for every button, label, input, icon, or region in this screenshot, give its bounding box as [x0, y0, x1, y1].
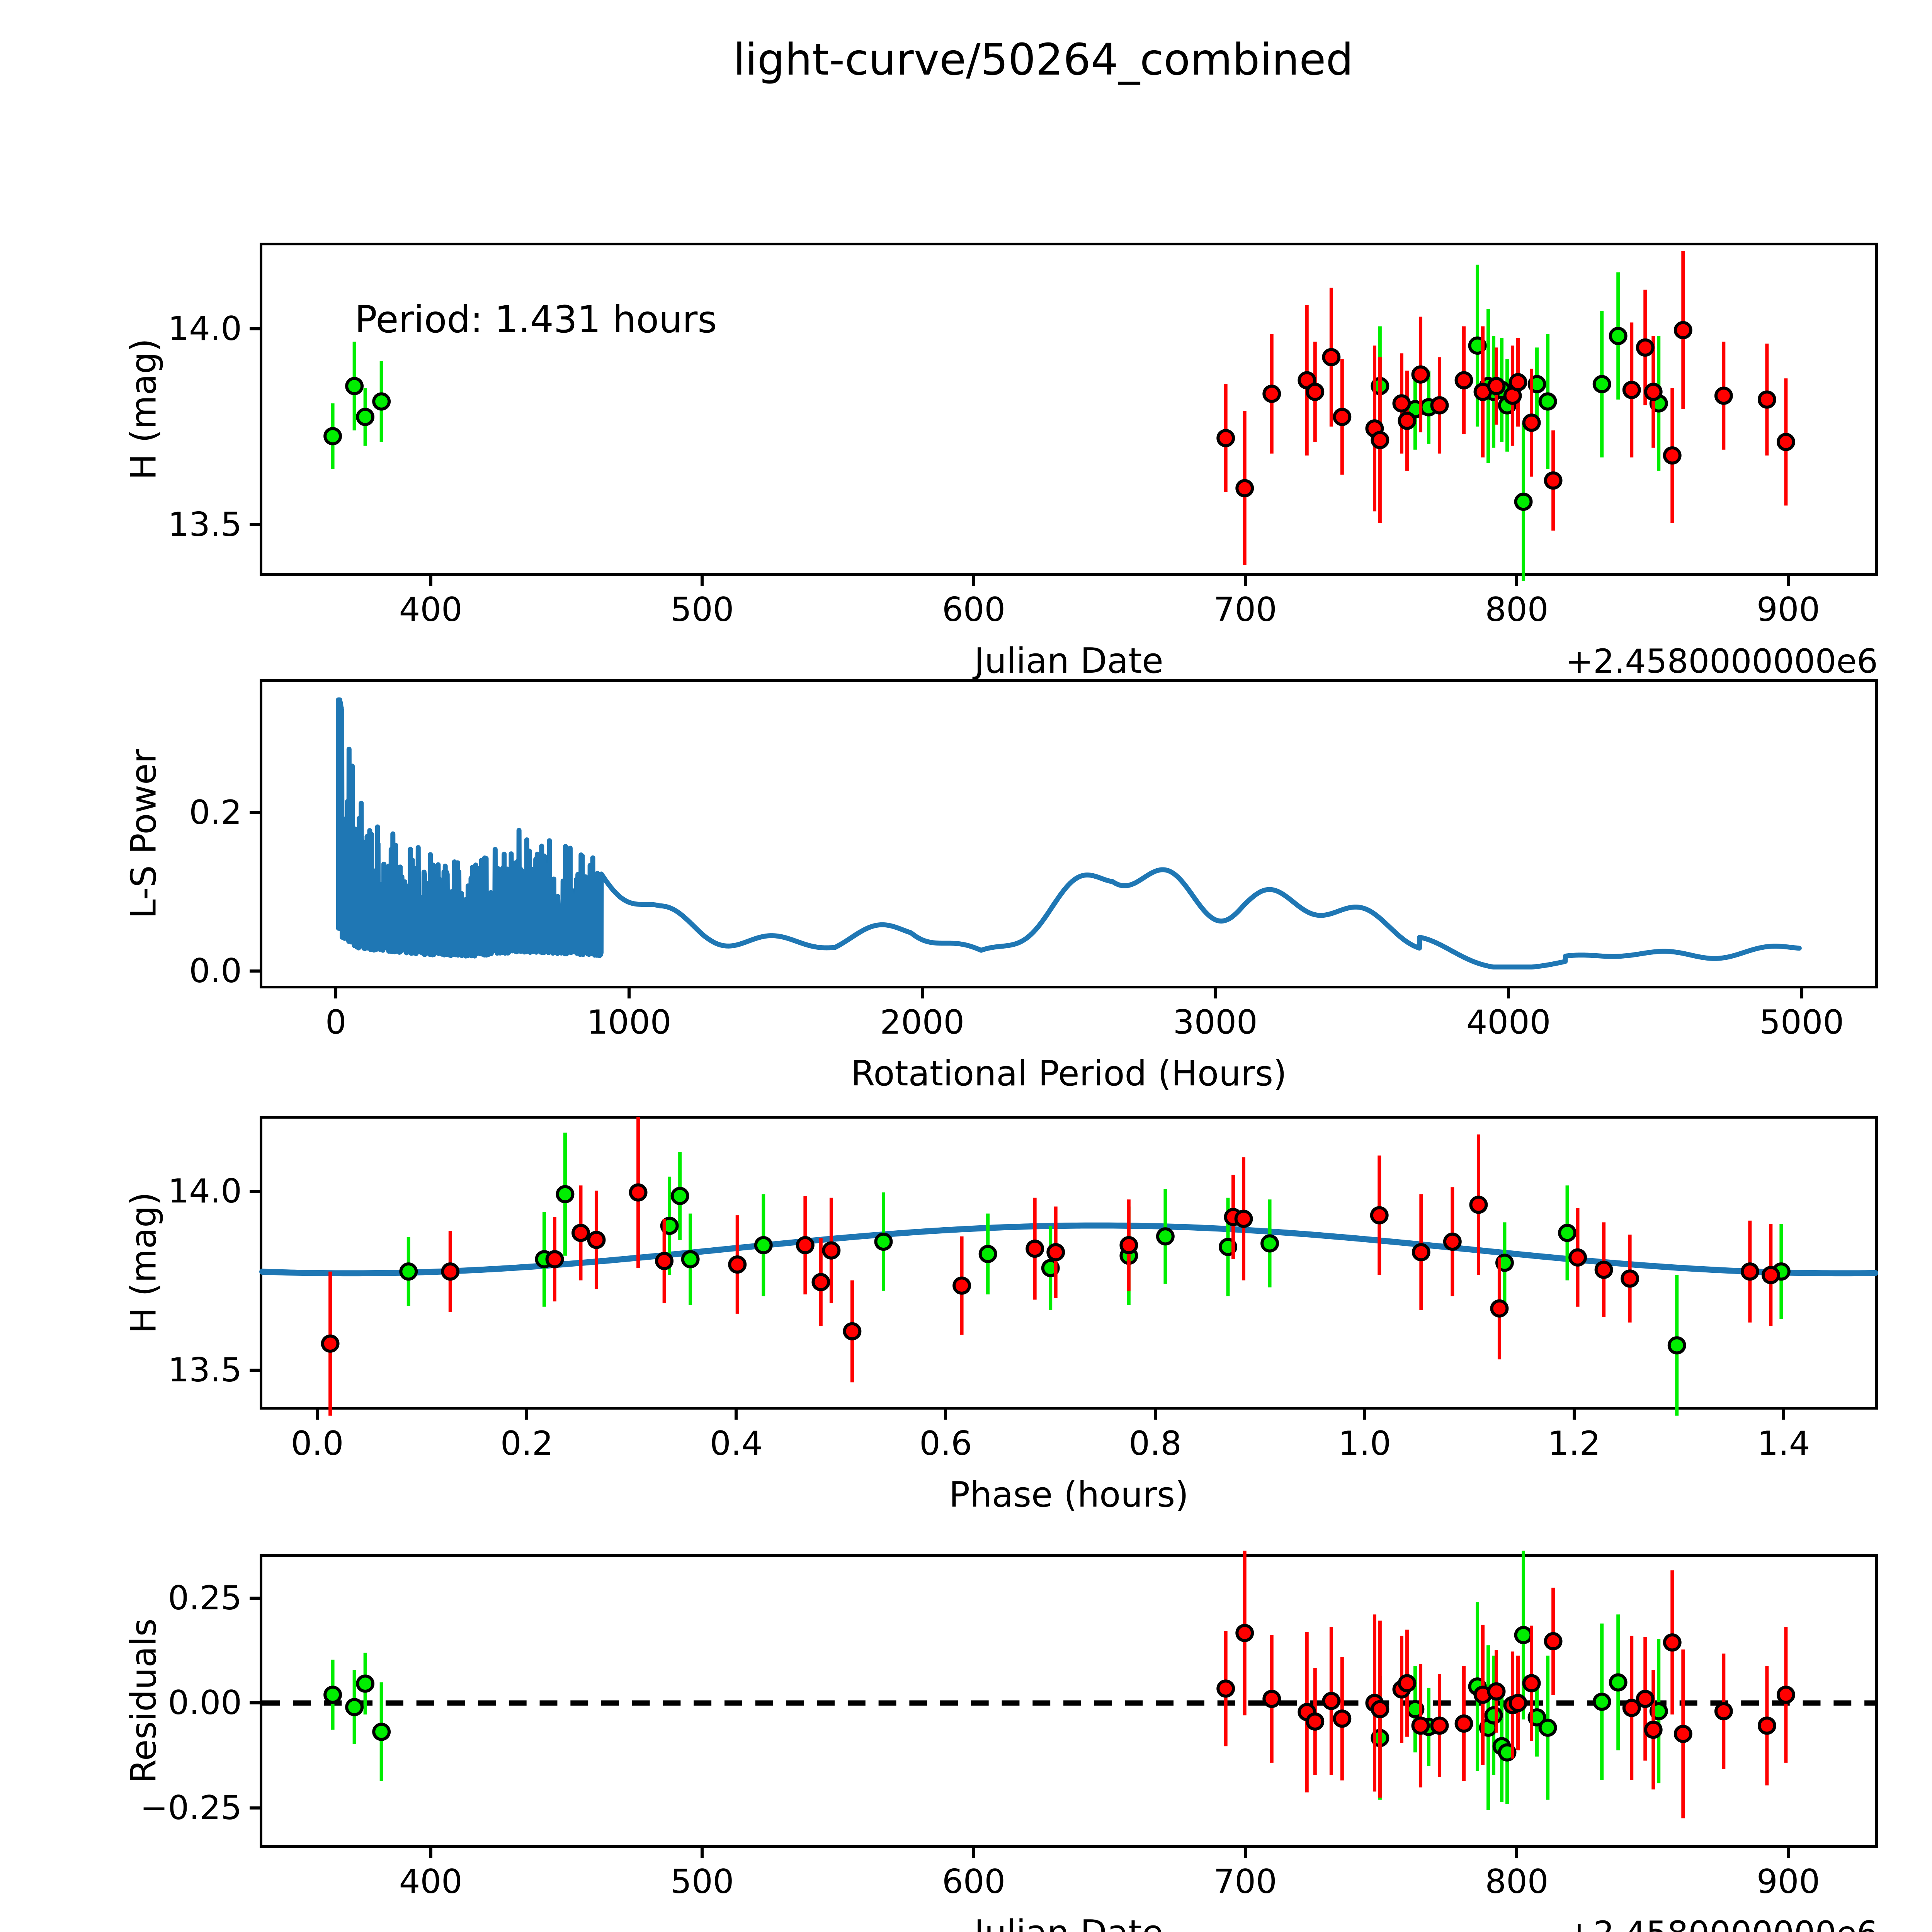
y-tick-mark: [250, 523, 260, 526]
y-axis-title: Residuals: [124, 1619, 164, 1784]
x-tick-mark: [1507, 988, 1510, 998]
data-point: [325, 1687, 340, 1702]
y-tick-label: 0.2: [189, 793, 242, 832]
x-tick-mark: [735, 1410, 738, 1420]
data-point: [1638, 340, 1653, 355]
panel-periodogram: [260, 679, 1878, 988]
phasefold-plot-area: [262, 1119, 1875, 1407]
data-point: [1669, 1338, 1685, 1353]
x-tick-label: 1000: [587, 1003, 672, 1042]
data-point: [1622, 1271, 1638, 1286]
data-point: [1675, 1726, 1691, 1742]
data-point: [1675, 323, 1691, 338]
data-point: [1646, 1722, 1661, 1737]
x-tick-mark: [701, 1848, 704, 1858]
data-point: [1307, 384, 1323, 399]
x-tick-label: 600: [942, 1862, 1005, 1901]
x-tick-label: 1.0: [1338, 1424, 1391, 1463]
data-point: [954, 1278, 969, 1293]
y-tick-label: 13.5: [168, 505, 242, 544]
x-tick-mark: [1244, 576, 1247, 586]
x-tick-label: 2000: [880, 1003, 964, 1042]
residuals-plot-area: [262, 1557, 1875, 1845]
x-tick-mark: [1363, 1410, 1366, 1420]
panel-phasefold: [260, 1116, 1878, 1410]
x-tick-mark: [1515, 1848, 1518, 1858]
y-tick-mark: [250, 327, 260, 330]
x-tick-label: 800: [1485, 1862, 1548, 1901]
data-point: [1456, 373, 1472, 388]
data-point: [573, 1225, 588, 1240]
x-tick-mark: [628, 988, 631, 998]
data-point: [1432, 398, 1447, 413]
data-point: [1759, 392, 1775, 407]
x-tick-label: 5000: [1759, 1003, 1844, 1042]
x-tick-mark: [1782, 1410, 1785, 1420]
data-point: [357, 409, 373, 424]
data-point: [1638, 1691, 1653, 1706]
data-point: [1237, 481, 1252, 496]
data-point: [1540, 394, 1556, 409]
data-point: [1334, 1711, 1350, 1726]
data-point: [1323, 350, 1339, 365]
data-point: [1486, 1708, 1502, 1723]
x-tick-mark: [1214, 988, 1217, 998]
x-tick-mark: [701, 576, 704, 586]
x-tick-label: 4000: [1466, 1003, 1551, 1042]
data-point: [1456, 1716, 1472, 1731]
data-point: [1027, 1241, 1043, 1256]
data-point: [442, 1264, 458, 1279]
data-point: [1372, 432, 1388, 447]
x-tick-mark: [1787, 576, 1790, 586]
x-axis-title: Phase (hours): [949, 1475, 1189, 1515]
x-tick-mark: [944, 1410, 947, 1420]
data-point: [1524, 415, 1539, 430]
data-point: [1546, 1634, 1561, 1649]
x-tick-label: 0: [325, 1003, 347, 1042]
panel-lightcurve: [260, 243, 1878, 576]
x-tick-label: 500: [670, 1862, 734, 1901]
data-point: [1778, 434, 1794, 449]
data-point: [1716, 1704, 1731, 1719]
lightcurve-plot-area: [262, 245, 1875, 573]
x-axis-title: Rotational Period (Hours): [851, 1053, 1287, 1094]
data-point: [1489, 378, 1504, 393]
y-tick-label: 13.5: [168, 1351, 242, 1389]
series-green-band: [401, 1133, 1789, 1415]
data-point: [1540, 1720, 1556, 1735]
x-tick-label: 500: [670, 590, 734, 629]
x-tick-mark: [1573, 1410, 1576, 1420]
data-point: [547, 1252, 563, 1267]
data-point: [1237, 1626, 1252, 1641]
data-point: [730, 1257, 745, 1272]
x-tick-label: 3000: [1173, 1003, 1258, 1042]
data-point: [347, 378, 362, 393]
x-tick-label: 0.0: [291, 1424, 344, 1463]
data-point: [813, 1274, 828, 1289]
data-point: [798, 1238, 813, 1253]
data-point: [1399, 413, 1415, 428]
data-point: [1778, 1687, 1794, 1702]
figure-canvas: light-curve/50264_combined 4005006007008…: [0, 0, 1932, 1932]
data-point: [374, 394, 389, 409]
figure-title: light-curve/50264_combined: [0, 35, 1932, 85]
x-axis-offset-label: +2.4580000000e6: [1565, 1914, 1878, 1932]
x-tick-label: 0.8: [1129, 1424, 1182, 1463]
x-tick-mark: [316, 1410, 319, 1420]
x-tick-label: 700: [1214, 590, 1277, 629]
data-point: [325, 429, 340, 444]
data-point: [1516, 1628, 1531, 1643]
data-point: [1611, 328, 1626, 344]
y-tick-label: −0.25: [140, 1789, 242, 1827]
data-point: [323, 1336, 338, 1351]
data-point: [1763, 1267, 1779, 1282]
data-point: [1432, 1718, 1447, 1733]
y-axis-title: H (mag): [124, 338, 164, 480]
data-point: [672, 1189, 688, 1204]
x-tick-mark: [921, 988, 924, 998]
x-tick-mark: [525, 1410, 528, 1420]
y-tick-label: 0.25: [168, 1579, 242, 1617]
data-point: [980, 1247, 996, 1262]
data-point: [1471, 1197, 1486, 1212]
sinusoid-fit-line: [262, 1226, 1875, 1274]
x-tick-mark: [1244, 1848, 1247, 1858]
x-tick-mark: [1787, 1848, 1790, 1858]
y-tick-label: 14.0: [168, 310, 242, 348]
x-tick-label: 700: [1214, 1862, 1277, 1901]
y-tick-mark: [250, 1369, 260, 1372]
x-tick-mark: [1154, 1410, 1157, 1420]
data-point: [1307, 1714, 1323, 1729]
data-point: [1048, 1245, 1063, 1260]
data-point: [1611, 1675, 1626, 1690]
data-point: [357, 1676, 373, 1691]
x-axis-title: Julian Date: [974, 1913, 1163, 1932]
data-point: [1413, 1718, 1429, 1733]
data-point: [1489, 1684, 1504, 1699]
x-tick-label: 0.2: [500, 1424, 553, 1463]
data-point: [558, 1187, 573, 1202]
data-point: [1236, 1211, 1252, 1226]
panel-residuals: [260, 1554, 1878, 1848]
data-point: [1516, 494, 1531, 509]
x-tick-label: 0.4: [710, 1424, 763, 1463]
data-point: [1646, 384, 1661, 399]
x-tick-label: 900: [1757, 1862, 1820, 1901]
data-point: [1218, 1681, 1233, 1696]
x-tick-label: 0.6: [919, 1424, 972, 1463]
x-tick-mark: [1515, 576, 1518, 586]
x-tick-label: 1.2: [1548, 1424, 1601, 1463]
data-point: [683, 1252, 698, 1267]
data-point: [1218, 430, 1233, 446]
data-point: [876, 1234, 891, 1249]
y-tick-mark: [250, 1597, 260, 1600]
x-tick-label: 600: [942, 590, 1005, 629]
data-point: [1716, 388, 1731, 403]
data-point: [1665, 448, 1680, 463]
data-point: [823, 1243, 839, 1258]
data-point: [1372, 1208, 1387, 1223]
data-point: [1524, 1676, 1539, 1691]
data-point: [1394, 396, 1409, 411]
x-tick-mark: [334, 988, 337, 998]
data-point: [1264, 1691, 1279, 1706]
data-point: [1759, 1718, 1775, 1733]
x-tick-label: 400: [399, 590, 463, 629]
data-point: [1546, 473, 1561, 488]
data-point: [1624, 382, 1639, 397]
period-annotation: Period: 1.431 hours: [355, 298, 717, 341]
data-point: [1399, 1676, 1415, 1691]
x-axis-title: Julian Date: [974, 641, 1163, 681]
x-tick-label: 800: [1485, 590, 1548, 629]
x-tick-mark: [972, 1848, 975, 1858]
y-axis-title: H (mag): [124, 1192, 164, 1333]
x-tick-mark: [1800, 988, 1803, 998]
x-tick-label: 400: [399, 1862, 463, 1901]
y-tick-mark: [250, 1190, 260, 1193]
data-point: [1262, 1236, 1277, 1251]
y-tick-mark: [250, 811, 260, 814]
data-point: [1594, 1694, 1610, 1709]
y-axis-title: L-S Power: [124, 749, 164, 919]
data-point: [1334, 409, 1350, 424]
periodogram-plot-area: [262, 682, 1875, 986]
data-point: [374, 1724, 389, 1739]
x-axis-offset-label: +2.4580000000e6: [1565, 642, 1878, 681]
data-point: [1158, 1229, 1173, 1244]
data-point: [589, 1232, 604, 1247]
data-point: [1121, 1238, 1136, 1253]
y-tick-label: 0.00: [168, 1684, 242, 1722]
data-point: [1594, 376, 1610, 391]
data-point: [756, 1238, 771, 1253]
data-point: [1445, 1234, 1460, 1249]
data-point: [1413, 367, 1429, 382]
data-point: [1492, 1301, 1507, 1316]
y-tick-mark: [250, 1701, 260, 1704]
x-tick-label: 900: [1757, 590, 1820, 629]
y-tick-mark: [250, 1806, 260, 1810]
data-point: [1323, 1693, 1339, 1708]
x-tick-label: 1.4: [1757, 1424, 1810, 1463]
data-point: [656, 1253, 672, 1269]
data-point: [1510, 1696, 1526, 1711]
x-tick-mark: [972, 576, 975, 586]
y-tick-label: 0.0: [189, 952, 242, 990]
x-tick-mark: [429, 1848, 432, 1858]
data-point: [1665, 1635, 1680, 1650]
data-point: [1510, 374, 1526, 389]
data-point: [1264, 386, 1279, 401]
data-point: [1570, 1250, 1585, 1265]
data-point: [1413, 1245, 1429, 1260]
data-point: [1742, 1264, 1758, 1279]
data-point: [1372, 1702, 1388, 1717]
data-point: [844, 1324, 860, 1339]
ls-power-curve: [338, 700, 1799, 967]
data-point: [401, 1264, 416, 1279]
data-point: [1560, 1225, 1575, 1240]
y-tick-mark: [250, 969, 260, 973]
y-tick-label: 14.0: [168, 1172, 242, 1211]
data-point: [631, 1185, 646, 1200]
data-point: [1596, 1262, 1612, 1277]
x-tick-mark: [429, 576, 432, 586]
data-point: [347, 1699, 362, 1714]
